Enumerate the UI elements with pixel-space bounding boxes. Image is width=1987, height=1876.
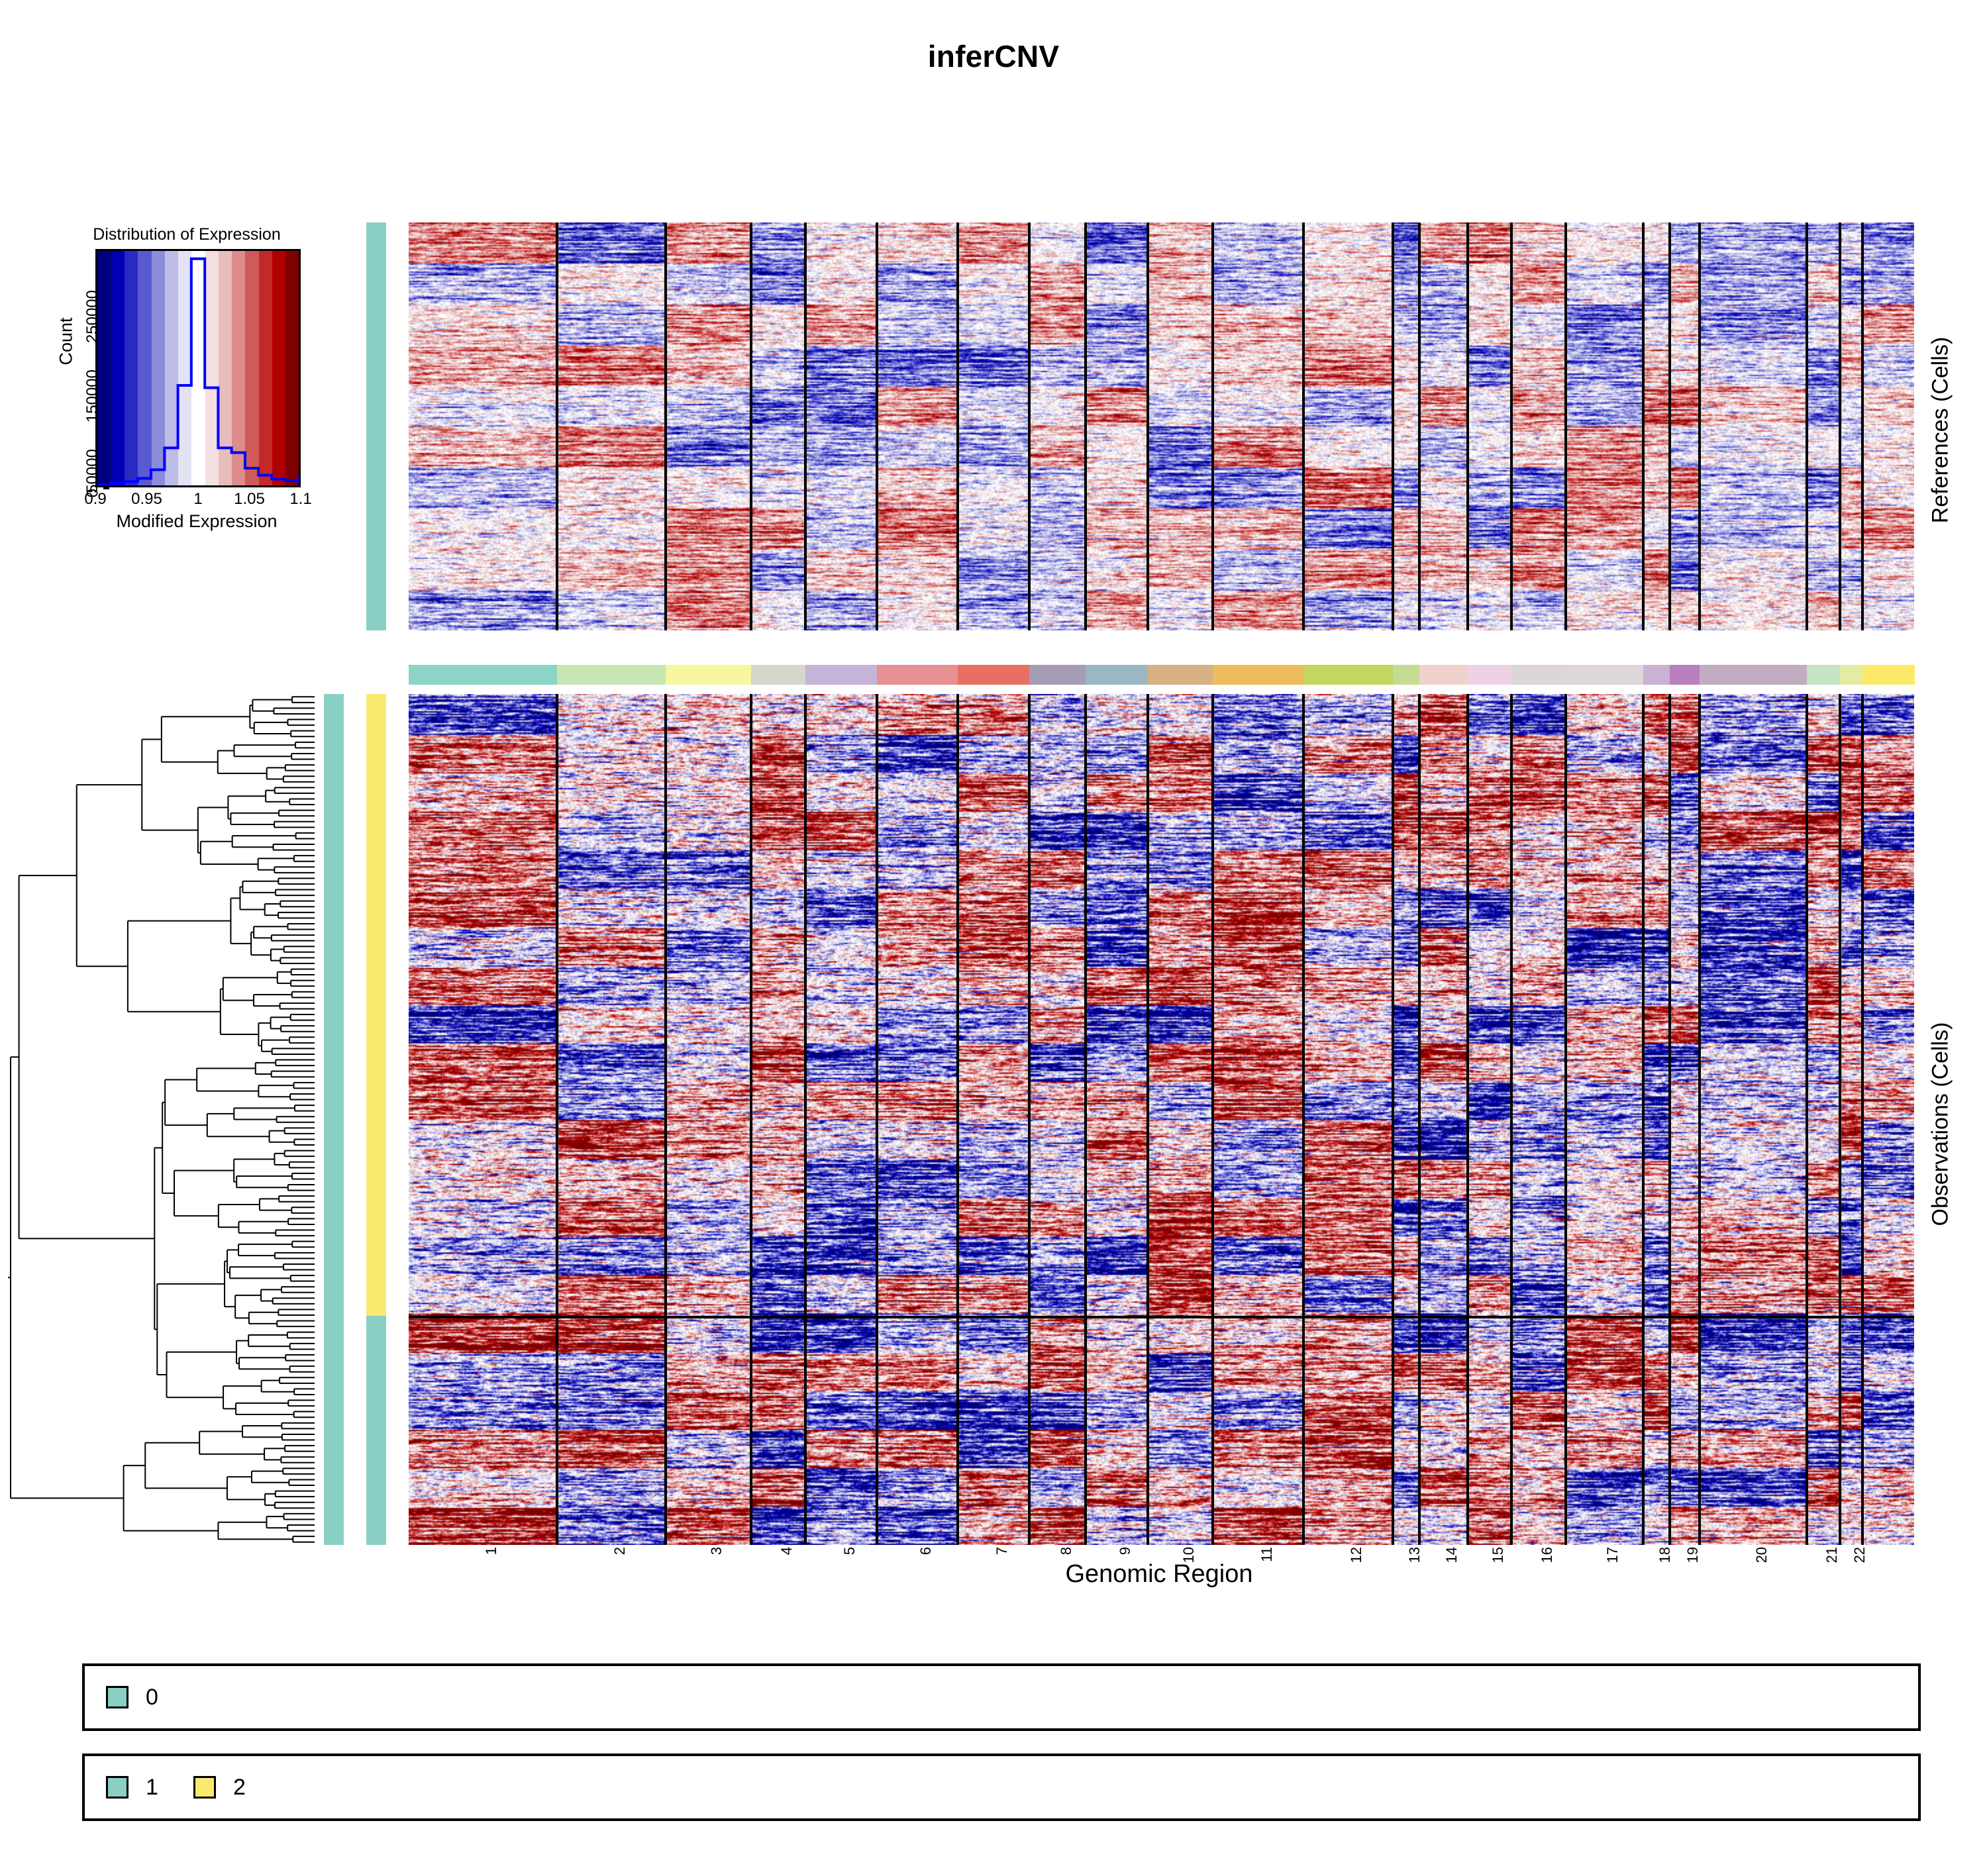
chromosome-separator [1806,222,1808,630]
chromosome-separator [1146,222,1149,630]
observations-subgroup-divider [409,1316,1914,1318]
chromosome-separator [1642,694,1645,1545]
chromosome-separator [1146,694,1149,1545]
chromosome-tick-label: 19 [1684,1547,1702,1563]
color-key-panel: Distribution of Expression 0500001500002… [41,225,306,622]
color-key-xtick: 0.95 [131,490,162,509]
chromosome-separator [556,222,558,630]
chromosome-separator [664,222,667,630]
chromosome-separator [956,694,959,1545]
chromosome-separator [804,694,807,1545]
references-heatmap[interactable] [409,222,1914,630]
references-axis-label: References (Cells) [1928,298,1954,563]
chromosome-segment [877,665,958,685]
chromosome-segment [1807,665,1841,685]
legend-swatch [106,1776,128,1799]
chromosome-separator [664,694,667,1545]
annotation-segment [324,694,344,1545]
chromosome-separator [1028,222,1031,630]
chromosome-separator [1302,222,1305,630]
legend-swatch [193,1776,216,1799]
chromosome-separator [1698,694,1701,1545]
observations-axis-label: Observations (Cells) [1928,972,1954,1277]
chromosome-segment [751,665,806,685]
annotation-segment [366,694,386,1316]
color-key-ytick-mark [103,487,109,489]
observations-annotation-bar-inner [366,694,386,1545]
legend-swatch [106,1686,128,1708]
histogram-outline [97,259,299,485]
chromosome-tick-label: 6 [917,1547,935,1555]
annotation-segment [366,222,386,630]
chromosome-separator [1642,222,1645,630]
chromosome-tick-label: 17 [1604,1547,1621,1563]
chromosome-separator [1510,694,1513,1545]
chromosome-separator [1211,222,1214,630]
color-key-title: Distribution of Expression [68,225,306,244]
chromosome-tick-label: 22 [1851,1547,1868,1563]
chromosome-segment [1148,665,1213,685]
x-axis-label: Genomic Region [861,1560,1457,1589]
color-key-xtick: 0.9 [84,490,106,509]
page-title: inferCNV [0,38,1987,74]
chromosome-segment [1029,665,1086,685]
chromosome-segment [958,665,1031,685]
chromosome-separator [1806,694,1808,1545]
chromosome-segment [805,665,878,685]
references-annotation-bar [366,222,386,630]
chromosome-separator [1466,222,1469,630]
chromosome-separator [1084,222,1087,630]
chromosome-separator [1698,222,1701,630]
chromosome-segment [1419,665,1468,685]
chromosome-separator [876,694,878,1545]
chromosome-tick-label: 8 [1058,1547,1075,1555]
chromosome-segment [409,665,558,685]
chromosome-tick-label: 21 [1823,1547,1841,1563]
annotation-segment [366,1316,386,1545]
dendrogram-branches [8,697,315,1542]
chromosome-separator [750,694,752,1545]
legend-item[interactable]: 0 [106,1666,158,1728]
observations-heatmap-canvas [409,694,1914,1545]
chromosome-color-bar [409,665,1914,685]
color-key-xtick: 1.05 [234,490,265,509]
chromosome-separator [1861,222,1864,630]
chromosome-tick-label: 2 [611,1547,629,1555]
chromosome-segment [1303,665,1394,685]
legend-item[interactable]: 2 [193,1756,246,1818]
chromosome-separator [1084,694,1087,1545]
chromosome-tick-label: 15 [1490,1547,1507,1563]
chromosome-separator [1668,222,1671,630]
chromosome-separator [956,222,959,630]
color-key-plot-area [95,249,301,487]
chromosome-segment [1086,665,1149,685]
chromosome-segment [1213,665,1304,685]
chromosome-segment [557,665,666,685]
chromosome-separator [876,222,878,630]
chromosome-separator [1392,222,1394,630]
chromosome-segment [1670,665,1701,685]
chromosome-separator [1564,222,1567,630]
chromosome-separator [1418,222,1421,630]
chromosome-separator [1861,694,1864,1545]
color-key-x-ticks: 0.90.9511.051.1 [95,490,301,513]
observations-heatmap[interactable] [409,694,1914,1545]
chromosome-segment [1700,665,1808,685]
chromosome-separator [1510,222,1513,630]
chromosome-segment [666,665,752,685]
chromosome-segment [1511,665,1566,685]
chromosome-separator [1839,694,1841,1545]
legend-label: 0 [146,1686,158,1708]
chromosome-tick-label: 18 [1656,1547,1674,1563]
chromosome-separator [1392,694,1394,1545]
chromosome-tick-label: 3 [708,1547,725,1555]
chromosome-tick-label: 5 [841,1547,858,1555]
legend-item[interactable]: 1 [106,1756,158,1818]
chromosome-segment [1643,665,1670,685]
references-group-legend: 0 [82,1663,1921,1731]
observations-dendrogram [7,694,315,1545]
color-key-ylabel: Count [56,282,77,401]
chromosome-tick-label: 4 [778,1547,795,1555]
chromosome-separator [804,222,807,630]
chromosome-segment [1862,665,1915,685]
chromosome-segment [1393,665,1420,685]
chromosome-separator [556,694,558,1545]
legend-label: 1 [146,1776,158,1799]
chromosome-separator [1466,694,1469,1545]
chromosome-separator [1564,694,1567,1545]
observations-group-legend: 12 [82,1753,1921,1821]
chromosome-separator [1302,694,1305,1545]
references-heatmap-canvas [409,222,1914,630]
chromosome-separator [1418,694,1421,1545]
expression-histogram [97,251,299,485]
chromosome-segment [1840,665,1863,685]
legend-label: 2 [233,1776,246,1799]
chromosome-separator [1028,694,1031,1545]
chromosome-separator [750,222,752,630]
chromosome-tick-label: 1 [483,1547,500,1555]
chromosome-tick-label: 16 [1539,1547,1556,1563]
chromosome-tick-label: 20 [1753,1547,1770,1563]
color-key-xtick: 1.1 [289,490,311,509]
color-key-xtick: 1 [193,490,202,509]
chromosome-tick-label: 9 [1117,1547,1134,1555]
observations-annotation-bar-outer [324,694,344,1545]
chromosome-tick-label: 7 [993,1547,1011,1555]
chromosome-segment [1566,665,1644,685]
chromosome-segment [1468,665,1513,685]
chromosome-separator [1839,222,1841,630]
chromosome-separator [1211,694,1214,1545]
chromosome-separator [1668,694,1671,1545]
color-key-xlabel: Modified Expression [68,511,326,532]
